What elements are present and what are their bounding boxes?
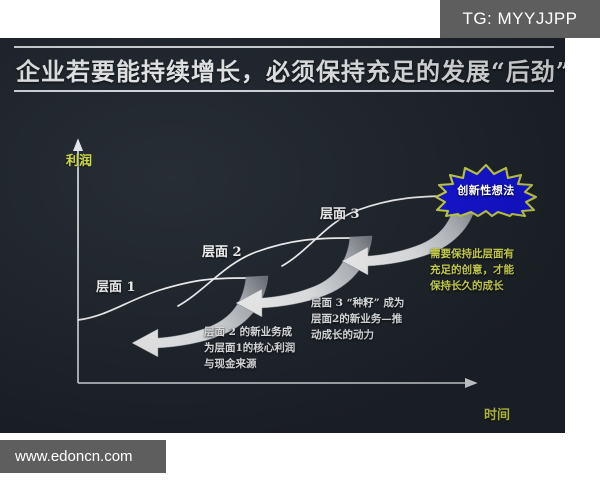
innovation-starburst-label: 创新性想法: [436, 164, 536, 216]
watermark-tag-label: TG: MYYJJPP: [462, 9, 577, 29]
innovation-starburst: 创新性想法: [436, 164, 536, 216]
url-watermark-label: www.edoncn.com: [0, 448, 133, 465]
slide-canvas: 企业若要能持续增长，必须保持充足的发展“后劲”: [0, 38, 565, 433]
annotation-horizon2-to-horizon1: 层面 2 的新业务成为层面1的核心利润与现金来源: [204, 325, 300, 372]
horizon-3-label: 层面 3: [320, 203, 360, 222]
annotation-horizon3-seed: 层面 3 “种籽” 成为层面2的新业务—推动成长的动力: [311, 296, 409, 343]
watermark-tag-bar: TG: MYYJJPP: [440, 0, 600, 38]
url-watermark-bar: www.edoncn.com: [0, 440, 166, 473]
x-axis-label: 时间: [484, 404, 510, 423]
growth-horizons-diagram: [0, 38, 565, 433]
horizon-1-label: 层面 1: [96, 276, 136, 295]
annotation-innovation-required: 需要保持此层面有充足的创意，才能保持长久的成长: [430, 247, 524, 294]
screenshot-root: TG: MYYJJPP 企业若要能持续增长，必须保持充足的发展“后劲”: [0, 0, 600, 480]
y-axis-label: 利润: [66, 150, 92, 169]
horizon-2-label: 层面 2: [202, 241, 242, 260]
